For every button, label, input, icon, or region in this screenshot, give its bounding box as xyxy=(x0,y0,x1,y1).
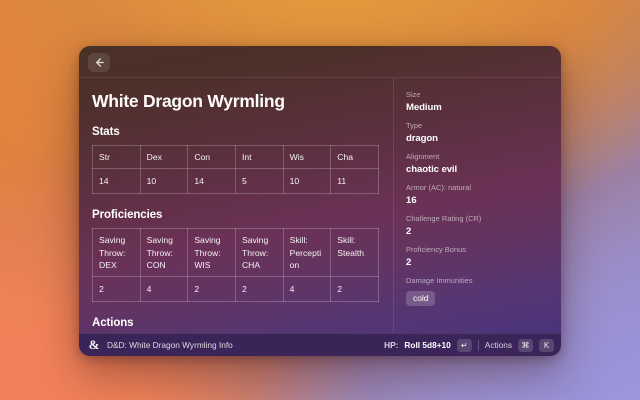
proficiencies-header-cell: Skill: Stealth xyxy=(331,229,379,277)
stats-header-row: Str Dex Con Int Wis Cha xyxy=(93,146,379,169)
attribute-value: dragon xyxy=(406,133,549,144)
attribute-item: Size Medium xyxy=(406,90,549,113)
attribute-item: Alignment chaotic evil xyxy=(406,152,549,175)
immunity-chip: cold xyxy=(406,291,435,306)
stats-value-cell: 11 xyxy=(331,169,379,194)
window-titlebar xyxy=(79,46,561,78)
proficiencies-value-cell: 4 xyxy=(140,277,188,302)
actions-menu-label[interactable]: Actions xyxy=(485,340,512,350)
hp-roll-value[interactable]: Roll 5d8+10 xyxy=(404,340,450,350)
stats-header-cell: Cha xyxy=(331,146,379,169)
attribute-value: Medium xyxy=(406,102,549,113)
proficiencies-header-row: Saving Throw: DEX Saving Throw: CON Savi… xyxy=(93,229,379,277)
proficiencies-header-cell: Saving Throw: DEX xyxy=(93,229,141,277)
attributes-sidebar: Size Medium Type dragon Alignment chaoti… xyxy=(393,78,561,333)
proficiencies-header-cell: Skill: Perception xyxy=(283,229,331,277)
stats-table: Str Dex Con Int Wis Cha 14 10 14 5 10 11 xyxy=(92,145,379,194)
hp-label: HP: xyxy=(384,340,398,350)
page-title: White Dragon Wyrmling xyxy=(92,91,379,112)
main-content: White Dragon Wyrmling Stats Str Dex Con … xyxy=(79,78,393,333)
status-bar-title: D&D: White Dragon Wyrmling Info xyxy=(107,340,233,350)
proficiencies-value-row: 2 4 2 2 4 2 xyxy=(93,277,379,302)
status-bar: & D&D: White Dragon Wyrmling Info HP: Ro… xyxy=(79,333,561,356)
actions-heading: Actions xyxy=(92,317,379,329)
proficiencies-value-cell: 2 xyxy=(93,277,141,302)
attribute-item: Armor (AC): natural 16 xyxy=(406,183,549,206)
attribute-key: Type xyxy=(406,121,549,130)
attribute-key: Damage Immunities xyxy=(406,276,549,285)
app-window: White Dragon Wyrmling Stats Str Dex Con … xyxy=(79,46,561,356)
command-key-button[interactable]: ⌘ xyxy=(518,339,533,352)
attribute-value: 2 xyxy=(406,226,549,237)
stats-value-cell: 14 xyxy=(188,169,236,194)
attribute-key: Alignment xyxy=(406,152,549,161)
desktop-background: White Dragon Wyrmling Stats Str Dex Con … xyxy=(0,0,640,400)
stats-value-cell: 5 xyxy=(235,169,283,194)
status-bar-divider xyxy=(478,340,479,351)
attribute-key: Proficiency Bonus xyxy=(406,245,549,254)
attribute-item: Type dragon xyxy=(406,121,549,144)
arrow-left-icon xyxy=(94,57,105,68)
enter-key-button[interactable]: ↵ xyxy=(457,339,472,352)
ampersand-icon: & xyxy=(86,337,102,353)
attribute-value: 2 xyxy=(406,257,549,268)
attribute-key: Challenge Rating (CR) xyxy=(406,214,549,223)
stats-value-cell: 10 xyxy=(283,169,331,194)
proficiencies-table: Saving Throw: DEX Saving Throw: CON Savi… xyxy=(92,228,379,302)
proficiencies-value-cell: 2 xyxy=(188,277,236,302)
stats-header-cell: Con xyxy=(188,146,236,169)
attribute-value: chaotic evil xyxy=(406,164,549,175)
back-button[interactable] xyxy=(88,53,110,72)
proficiencies-value-cell: 2 xyxy=(235,277,283,302)
proficiencies-header-cell: Saving Throw: WIS xyxy=(188,229,236,277)
proficiencies-value-cell: 2 xyxy=(331,277,379,302)
stats-value-cell: 14 xyxy=(93,169,141,194)
stats-value-cell: 10 xyxy=(140,169,188,194)
stats-header-cell: Int xyxy=(235,146,283,169)
attribute-key: Armor (AC): natural xyxy=(406,183,549,192)
proficiencies-value-cell: 4 xyxy=(283,277,331,302)
stats-heading: Stats xyxy=(92,126,379,138)
attribute-value: 16 xyxy=(406,195,549,206)
stats-value-row: 14 10 14 5 10 11 xyxy=(93,169,379,194)
attribute-item: Proficiency Bonus 2 xyxy=(406,245,549,268)
attribute-key: Size xyxy=(406,90,549,99)
status-bar-actions: HP: Roll 5d8+10 ↵ Actions ⌘ K xyxy=(384,339,554,352)
k-key-button[interactable]: K xyxy=(539,339,554,352)
stats-header-cell: Wis xyxy=(283,146,331,169)
stats-header-cell: Str xyxy=(93,146,141,169)
damage-immunities-item: Damage Immunities cold xyxy=(406,276,549,306)
attribute-item: Challenge Rating (CR) 2 xyxy=(406,214,549,237)
proficiencies-header-cell: Saving Throw: CON xyxy=(140,229,188,277)
proficiencies-header-cell: Saving Throw: CHA xyxy=(235,229,283,277)
window-body: White Dragon Wyrmling Stats Str Dex Con … xyxy=(79,78,561,333)
proficiencies-heading: Proficiencies xyxy=(92,209,379,221)
stats-header-cell: Dex xyxy=(140,146,188,169)
